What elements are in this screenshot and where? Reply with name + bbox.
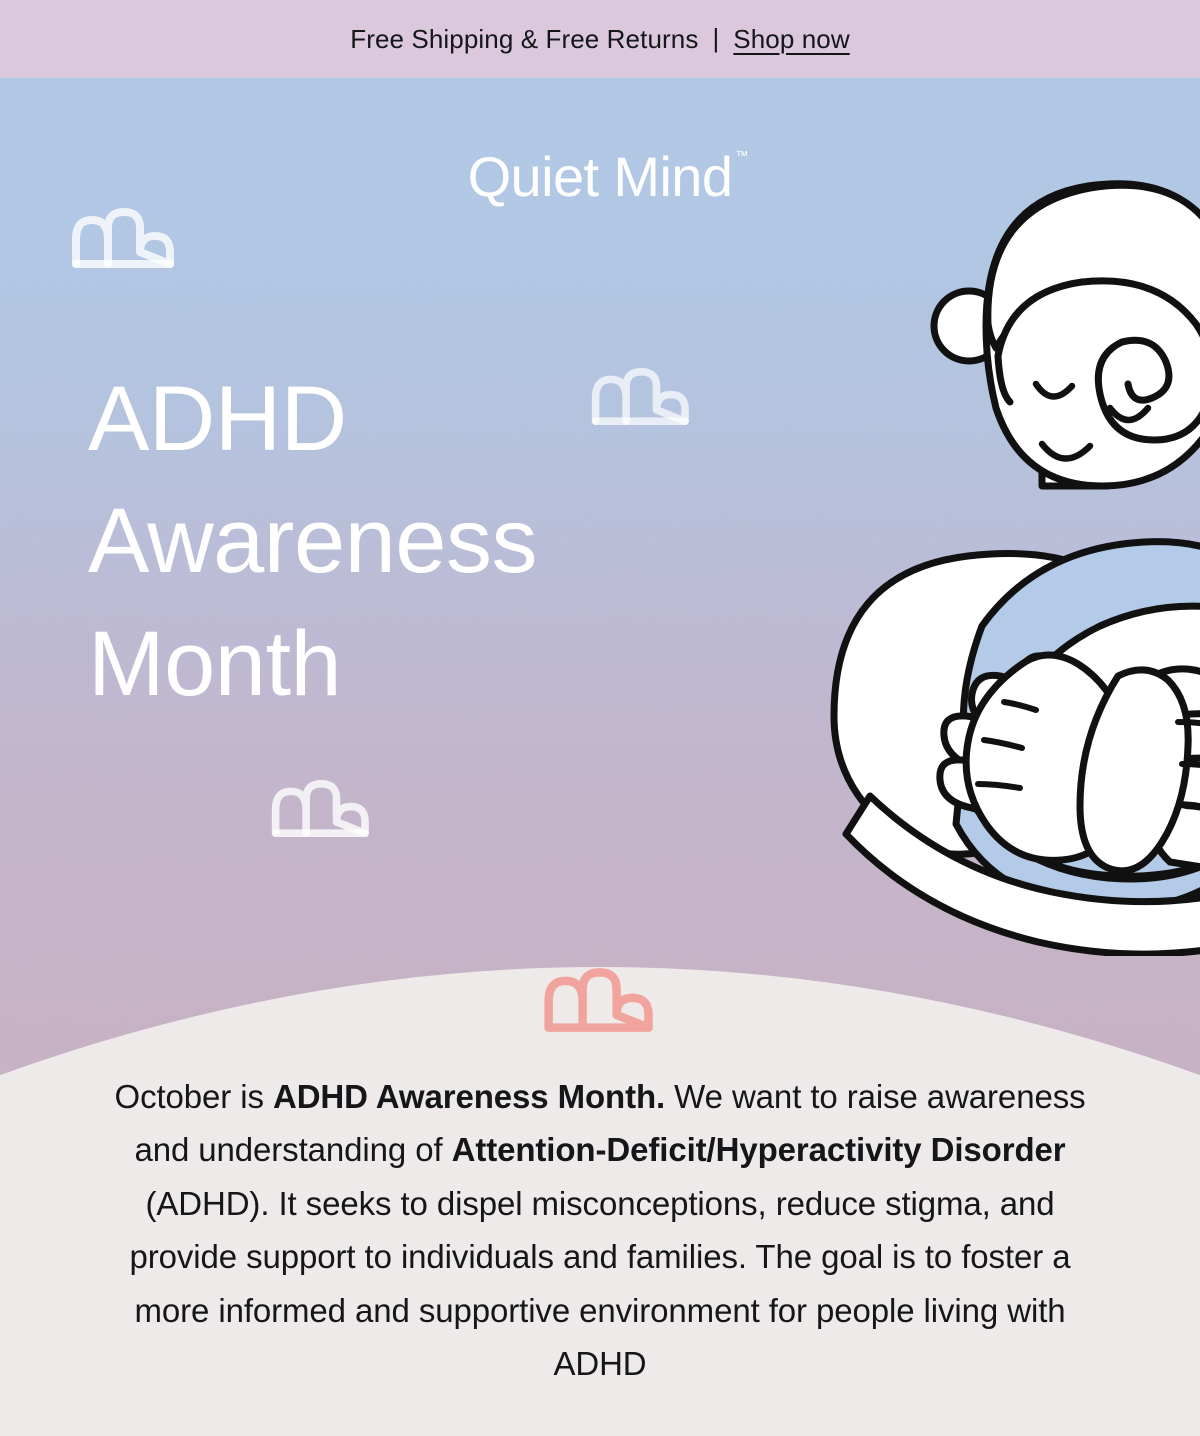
headline-line-2: Awareness [88,480,537,602]
cloud-icon-top-left [68,206,192,270]
body-text-run-0: October is [115,1078,273,1115]
body-text-bold-3: Attention-Deficit/Hyperactivity Disorder [452,1131,1066,1168]
brand-name: Quiet Mind ™ [468,144,733,209]
promo-bar: Free Shipping & Free Returns | Shop now [0,0,1200,78]
brand-name-text: Quiet Mind [468,145,733,208]
cloud-icon-lower-left [268,778,386,839]
promo-bar-content: Free Shipping & Free Returns | Shop now [350,24,850,55]
promo-separator: | [712,25,719,51]
email-body: Free Shipping & Free Returns | Shop now [0,0,1200,1436]
headline-line-1: ADHD [88,358,537,480]
promo-message: Free Shipping & Free Returns [350,24,698,55]
brand-logo: Quiet Mind ™ [0,144,1200,209]
cloud-icon-pink [540,966,672,1034]
body-paragraph: October is ADHD Awareness Month. We want… [0,1070,1200,1391]
cloud-icon-middle [588,366,706,427]
headline-line-3: Month [88,603,537,725]
body-text-bold-1: ADHD Awareness Month. [273,1078,665,1115]
hero-headline: ADHD Awareness Month [88,358,537,725]
body-text-run-4: (ADHD). It seeks to dispel misconception… [130,1185,1071,1382]
shop-now-link[interactable]: Shop now [733,24,849,55]
person-self-hug-illustration [638,156,1200,956]
trademark-symbol: ™ [735,148,748,163]
